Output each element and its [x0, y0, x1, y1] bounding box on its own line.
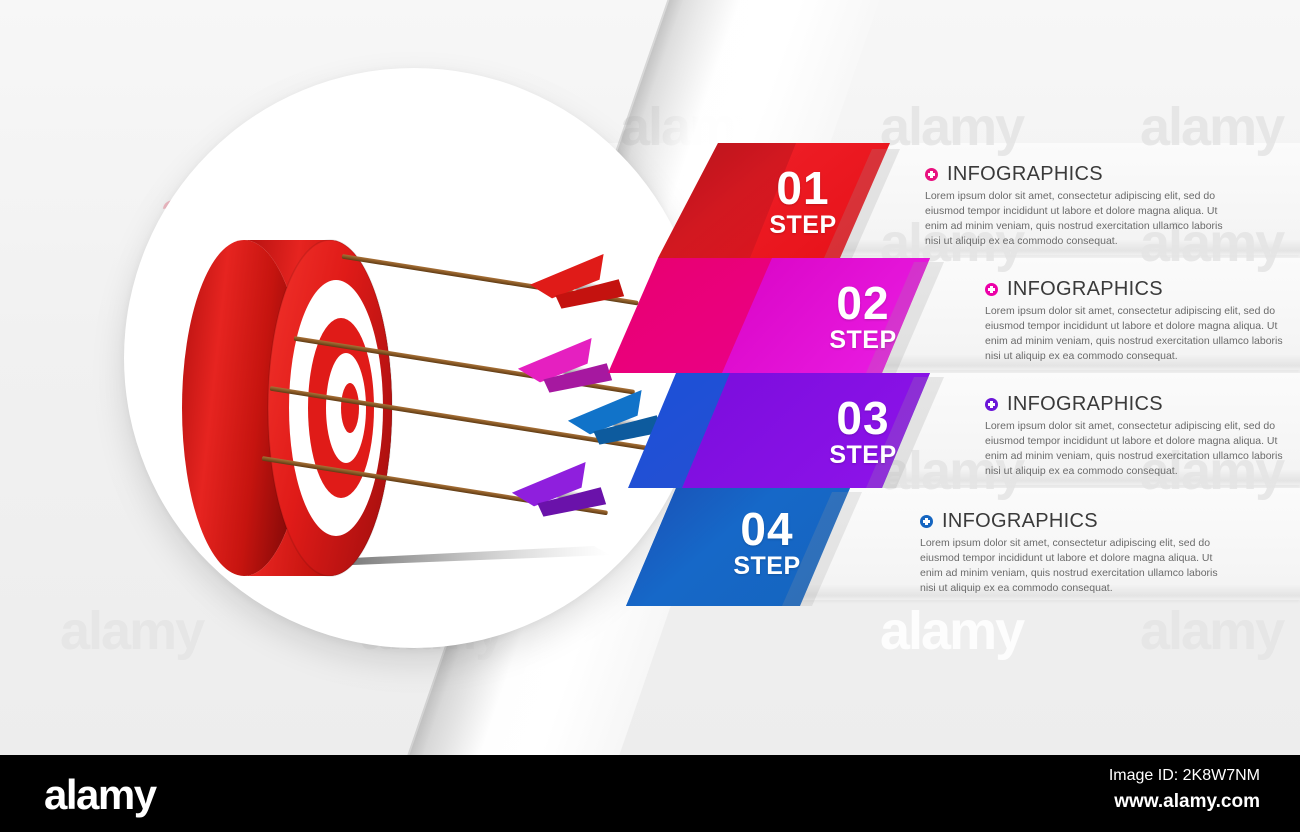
- bullet-plus-icon: [925, 168, 938, 181]
- step-body-01: Lorem ipsum dolor sit amet, consectetur …: [925, 189, 1225, 249]
- step-content-02: INFOGRAPHICS Lorem ipsum dolor sit amet,…: [985, 278, 1300, 364]
- step-row-04[interactable]: 04 STEP INFOGRAPHICS Lorem ipsum dolor s…: [600, 488, 1300, 603]
- step-content-04: INFOGRAPHICS Lorem ipsum dolor sit amet,…: [920, 510, 1255, 596]
- bullet-plus-icon: [920, 515, 933, 528]
- step-title-01: INFOGRAPHICS: [947, 163, 1103, 186]
- image-id-label: Image ID: 2K8W7NM: [1109, 767, 1260, 785]
- step-row-02[interactable]: 02 STEP INFOGRAPHICS Lorem ipsum dolor s…: [600, 258, 1300, 373]
- step-row-03[interactable]: 03 STEP INFOGRAPHICS Lorem ipsum dolor s…: [600, 373, 1300, 488]
- alamy-logo: alamy: [44, 771, 156, 819]
- arrow-red: [342, 243, 639, 318]
- step-row-01[interactable]: 01 STEP INFOGRAPHICS Lorem ipsum dolor s…: [600, 143, 1300, 258]
- step-title-02: INFOGRAPHICS: [1007, 278, 1163, 301]
- step-body-04: Lorem ipsum dolor sit amet, consectetur …: [920, 536, 1220, 596]
- step-title-03: INFOGRAPHICS: [1007, 393, 1163, 416]
- bullet-plus-icon: [985, 398, 998, 411]
- alamy-footer-bar: alamy Image ID: 2K8W7NM www.alamy.com: [0, 755, 1300, 832]
- infographic-canvas: alamy alamy alamy alamy alamy alamy alam…: [0, 0, 1300, 832]
- target-bullseye: [341, 383, 359, 433]
- bullet-plus-icon: [985, 283, 998, 296]
- step-body-03: Lorem ipsum dolor sit amet, consectetur …: [985, 419, 1285, 479]
- step-content-03: INFOGRAPHICS Lorem ipsum dolor sit amet,…: [985, 393, 1300, 479]
- step-body-02: Lorem ipsum dolor sit amet, consectetur …: [985, 304, 1285, 364]
- step-title-04: INFOGRAPHICS: [942, 510, 1098, 533]
- alamy-website-label: www.alamy.com: [1114, 791, 1260, 813]
- step-content-01: INFOGRAPHICS Lorem ipsum dolor sit amet,…: [925, 163, 1260, 249]
